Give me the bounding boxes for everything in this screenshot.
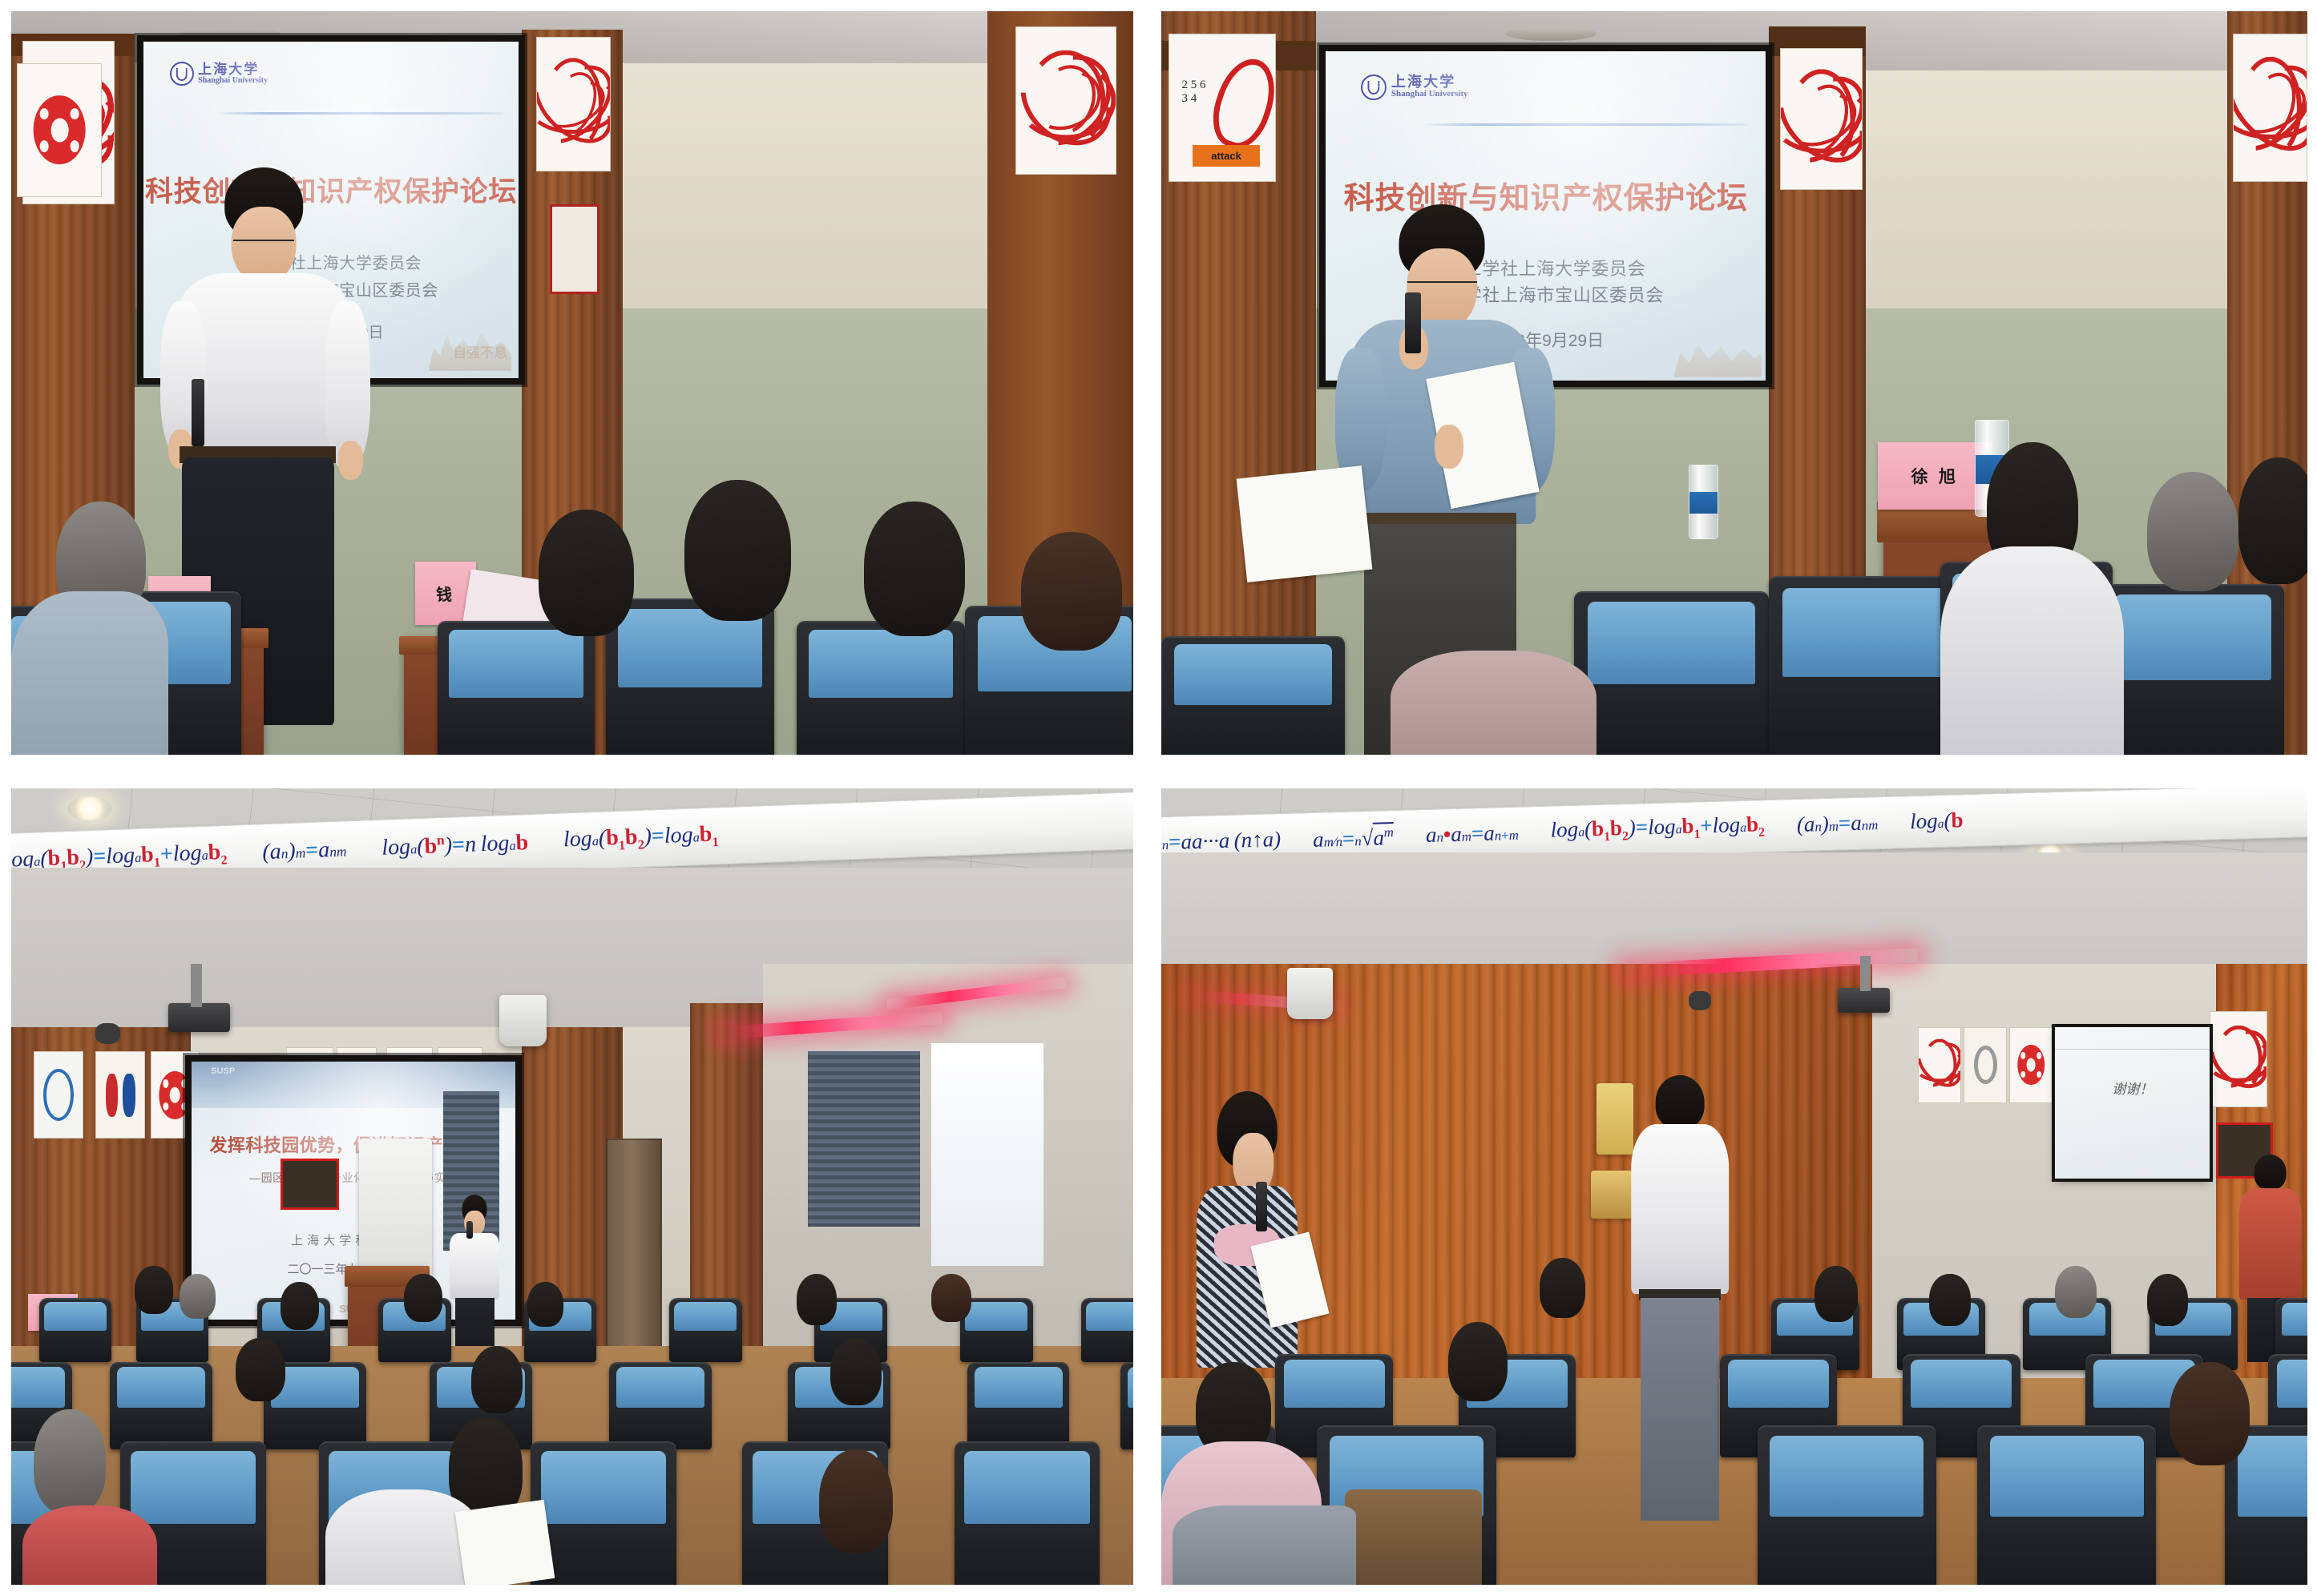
audience-head — [471, 1346, 523, 1413]
shirt — [1631, 1124, 1729, 1294]
panel-top-left[interactable]: 上海大学 Shanghai University 科技创新与知识产权保护论坛 九… — [0, 0, 1149, 768]
audience-shoulder — [1940, 546, 2124, 755]
seat-row-item — [438, 621, 595, 755]
microphone-icon — [1405, 292, 1420, 353]
formula-power-repeated: an=aa···a (n↑a) — [1161, 827, 1282, 856]
seat-row-item — [1574, 591, 1769, 755]
photo-collage: 上海大学 Shanghai University 科技创新与知识产权保护论坛 九… — [0, 0, 2317, 1596]
seat-row-item — [1769, 576, 1964, 755]
spirograph-icon — [1787, 69, 1855, 170]
audience-shoulder — [22, 1505, 157, 1585]
wall-poster-blue — [34, 1051, 83, 1139]
audience-shoulder — [11, 591, 168, 755]
wall-poster-spirograph — [1918, 1027, 1961, 1102]
seat-cushion — [965, 1302, 1027, 1332]
seat — [39, 1298, 112, 1362]
audience-head — [864, 502, 965, 635]
microphone-icon — [192, 379, 205, 446]
handbag — [1345, 1489, 1483, 1585]
seating-row — [11, 1362, 1133, 1449]
panel-bottom-left[interactable]: loga(b1b2)=logab1+logab2 (an)m=anm loga(… — [0, 768, 1149, 1596]
donut-icon — [2018, 1045, 2045, 1085]
wall-speaker — [1287, 968, 1333, 1020]
spirograph-icon — [2238, 56, 2301, 159]
seat-cushion — [1128, 1367, 1133, 1407]
wall-poster-donut — [2009, 1027, 2053, 1102]
gear-icon — [1974, 1046, 1997, 1084]
seat-cushion — [2114, 594, 2272, 680]
opening-speaker-photo: 上海大学 Shanghai University 科技创新与知识产权保护论坛 九… — [11, 11, 1133, 755]
donut-icon — [34, 96, 86, 165]
seat-cushion — [11, 1367, 65, 1407]
trefoil-knot-icon — [1204, 51, 1276, 155]
abstract-blue-icon — [43, 1069, 74, 1120]
logo-en-text: Shanghai University — [1391, 90, 1468, 99]
audience-head — [684, 480, 791, 621]
audience-question-photo: an=aa···a (n↑a) am∕n=n√am an•am=an+m log… — [1161, 788, 2307, 1585]
figure-icon — [123, 1074, 135, 1117]
audience-head — [1021, 532, 1122, 651]
audience-head — [135, 1266, 173, 1314]
slide-corner-logo: SUSP — [211, 1066, 235, 1076]
audience-head — [281, 1282, 319, 1330]
seat-cushion — [131, 1451, 256, 1524]
seat-cushion — [44, 1302, 107, 1332]
seat-cushion — [1990, 1436, 2144, 1517]
slide-divider — [1423, 123, 1748, 126]
security-camera-icon — [95, 1023, 120, 1044]
formula-log-truncated: loga(b — [1910, 808, 1964, 834]
lecture-hall-wide-photo: loga(b1b2)=logab1+logab2 (an)m=anm loga(… — [11, 788, 1133, 1585]
wall-poster-spirograph-far-right — [1015, 26, 1116, 175]
seat-row-item — [797, 621, 965, 755]
wall-notice — [1596, 1083, 1633, 1155]
microphone-icon — [1256, 1182, 1267, 1231]
handout-sheet — [455, 1499, 555, 1585]
seat-row-item — [606, 598, 774, 755]
ceiling-projector — [168, 1003, 230, 1032]
audience-head — [2170, 1362, 2250, 1465]
audience-head — [1448, 1322, 1508, 1401]
projector-mount — [191, 964, 202, 1008]
wall-poster-spirograph-far-right — [2210, 1011, 2267, 1106]
logo-cn-text: 上海大学 — [1391, 75, 1468, 90]
wall-poster-spirograph — [1780, 48, 1863, 189]
projection-screen: 谢谢！ — [2055, 1027, 2210, 1179]
wall-poster-framed-right — [550, 204, 599, 293]
su-emblem-icon — [1361, 75, 1387, 100]
wall-speaker — [499, 995, 547, 1046]
audience-head — [819, 1449, 893, 1553]
logo-cn-text: 上海大学 — [198, 62, 268, 77]
seat — [1977, 1425, 2156, 1585]
document-sheet — [1237, 465, 1373, 582]
audience-head — [830, 1338, 882, 1405]
seat — [1081, 1298, 1133, 1362]
hair — [1656, 1075, 1705, 1129]
paper-hand — [1435, 425, 1463, 469]
right-hand — [338, 441, 363, 480]
seat-cushion — [964, 1451, 1089, 1524]
audience-head — [2147, 1274, 2188, 1326]
seat-cushion — [2277, 1360, 2307, 1407]
shanghai-university-logo: 上海大学 Shanghai University — [170, 62, 268, 86]
shirt — [450, 1233, 499, 1300]
seat-cushion — [1728, 1360, 1829, 1407]
audience-head — [2238, 457, 2307, 584]
seat-cushion — [541, 1451, 666, 1524]
security-camera-icon — [1689, 991, 1712, 1010]
water-bottle — [1689, 465, 1718, 539]
audience-head — [797, 1274, 837, 1325]
glasses-icon — [1407, 281, 1478, 283]
seat-cushion — [449, 630, 584, 698]
shirt — [2238, 1188, 2302, 1300]
formula-product-of-powers: an•am=an+m — [1426, 820, 1520, 848]
poster-tag: attack — [1193, 145, 1261, 167]
thanks-text: 谢谢！ — [2055, 1078, 2210, 1098]
window-light — [931, 1043, 1043, 1266]
slide-divider — [218, 112, 503, 115]
audience-head — [404, 1274, 442, 1322]
wall-poster-gear — [1964, 1027, 2007, 1102]
seat-cushion — [1588, 602, 1755, 683]
wall-poster-spirograph-far-right — [2233, 34, 2307, 183]
figure-icon — [106, 1074, 118, 1117]
seat — [110, 1362, 212, 1449]
seat-cushion — [1086, 1302, 1133, 1332]
window-blind — [808, 1051, 920, 1227]
wall-poster-figures — [95, 1051, 145, 1139]
audience-head — [1814, 1266, 1858, 1322]
spirograph-icon — [1026, 50, 1105, 151]
microphone-icon — [466, 1221, 473, 1239]
spirograph-icon — [1923, 1039, 1957, 1091]
ceiling-downlight — [67, 796, 112, 820]
screen-header-line — [2055, 1049, 2210, 1050]
seat-cushion — [616, 1367, 704, 1407]
seat — [960, 1298, 1033, 1362]
audience-head — [2055, 1266, 2096, 1318]
seat-row-item — [2101, 584, 2285, 755]
wall-poster-knot: 2 5 63 4 attack — [1169, 34, 1276, 183]
seat-cushion — [2282, 1303, 2307, 1336]
formula-log-product-2: loga(b1b2)=logab1 — [563, 821, 719, 856]
seating-row — [11, 1441, 1133, 1585]
audience-head — [34, 1409, 106, 1513]
panel-top-right[interactable]: 2 5 63 4 attack 上海大学 Shanghai University — [1149, 0, 2317, 768]
host-with-microphone-photo: 2 5 63 4 attack 上海大学 Shanghai University — [1161, 11, 2307, 755]
audience-shoulder — [1391, 651, 1596, 755]
formula-power-of-power: (an)m=anm — [262, 836, 347, 865]
spirograph-icon — [2215, 1026, 2262, 1093]
audience-head — [1929, 1274, 1970, 1326]
formula-log-power: loga(bn)=n logab — [381, 829, 529, 861]
audience-head — [180, 1274, 216, 1319]
glasses-icon — [233, 240, 294, 241]
wall-notice — [1591, 1171, 1632, 1219]
audience-head — [931, 1274, 971, 1322]
su-emblem-icon — [170, 62, 194, 86]
spirograph-icon — [543, 58, 603, 151]
seat-cushion — [1284, 1360, 1385, 1407]
seat-cushion — [1911, 1360, 2012, 1407]
audience-leg — [1173, 1505, 1356, 1585]
logo-en-text: Shanghai University — [198, 77, 268, 86]
audience-head — [539, 510, 634, 636]
seat — [1120, 1362, 1133, 1449]
panel-bottom-right[interactable]: an=aa···a (n↑a) am∕n=n√am an•am=an+m log… — [1149, 768, 2317, 1596]
seat-cushion — [975, 1367, 1063, 1407]
bottle-label — [1689, 492, 1718, 514]
shanghai-university-logo: 上海大学 Shanghai University — [1361, 75, 1467, 100]
numbers-doodle: 2 5 63 4 — [1181, 79, 1205, 106]
ceiling-vent-icon — [1505, 26, 1596, 42]
seat-row-item — [1161, 636, 1345, 755]
seat-cushion — [2238, 1436, 2307, 1517]
wall-poster-spirograph-right — [536, 37, 610, 171]
seat — [967, 1362, 1070, 1449]
wall-poster-donut-left — [17, 63, 102, 197]
seat — [669, 1298, 742, 1362]
fire-equipment-cabinet — [281, 1159, 339, 1210]
audience-head — [1540, 1258, 1585, 1318]
formula-power-of-power: (an)m=anm — [1797, 810, 1879, 837]
formula-log-product: loga(b1b2)=logab1+logab2 — [1551, 812, 1766, 846]
hair — [2254, 1155, 2287, 1190]
formula-fractional-exponent: am∕n=n√am — [1313, 822, 1395, 852]
audience-head — [2147, 472, 2238, 590]
projector-mount — [1860, 956, 1871, 992]
audience-head — [527, 1282, 563, 1327]
seat — [609, 1362, 712, 1449]
seat-cushion — [809, 630, 954, 698]
audience-head — [236, 1338, 285, 1402]
seat — [955, 1441, 1100, 1585]
seat-cushion — [1770, 1436, 1923, 1517]
seat-cushion — [1782, 588, 1950, 677]
seat-cushion — [117, 1367, 205, 1407]
seat — [1758, 1425, 1936, 1585]
seat-cushion — [674, 1302, 737, 1332]
seat-cushion — [1174, 644, 1332, 706]
